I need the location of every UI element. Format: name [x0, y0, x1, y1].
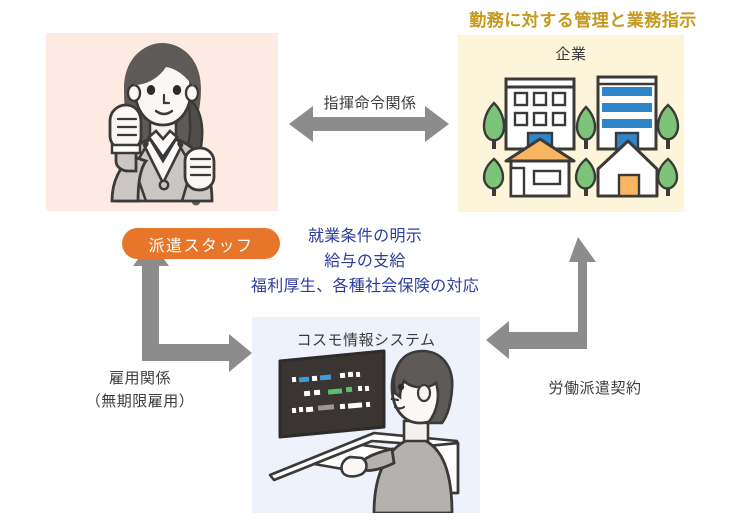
employment-arrow-label: 雇用関係 （無期限雇用） [55, 367, 225, 414]
agency-card-heading: コスモ情報システム [252, 329, 480, 350]
center-note-1: 就業条件の明示 [215, 225, 515, 250]
center-notes: 就業条件の明示 給与の支給 福利厚生、各種社会保険の対応 [215, 225, 515, 299]
staff-card: 派遣スタッフ [46, 33, 278, 211]
center-note-3: 福利厚生、各種社会保険の対応 [215, 275, 515, 300]
client-card-heading: 企業 [458, 43, 684, 64]
agency-card: コスモ情報システム [252, 317, 480, 513]
client-directive-title: 勤務に対する管理と業務指示 [440, 6, 726, 31]
center-note-2: 給与の支給 [215, 250, 515, 275]
businesswoman-waving-icon [46, 33, 278, 211]
dispatch-relationship-diagram: 勤務に対する管理と業務指示 [0, 0, 730, 530]
dispatch-contract-arrow-label: 労働派遣契約 [520, 377, 670, 398]
command-arrow-label: 指揮命令関係 [300, 92, 440, 113]
employment-arrow-label-line1: 雇用関係 [55, 367, 225, 390]
client-card: 企業 [458, 35, 684, 212]
employment-arrow-label-line2: （無期限雇用） [55, 390, 225, 413]
